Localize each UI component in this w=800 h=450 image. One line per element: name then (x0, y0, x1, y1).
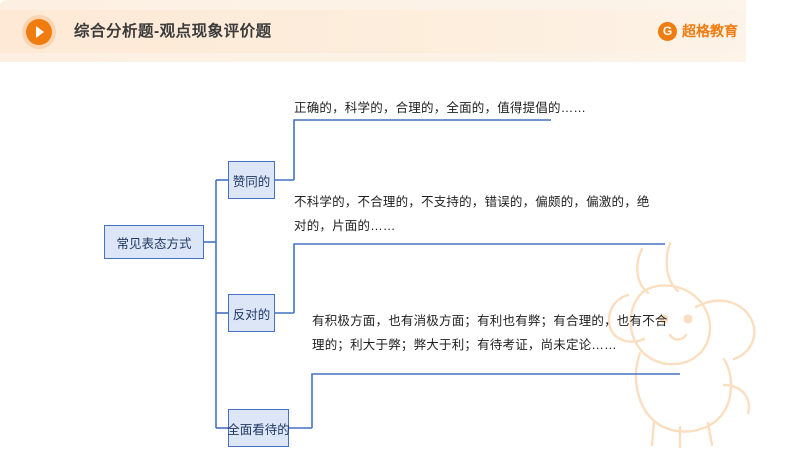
brand-name: 超格教育 (682, 21, 738, 41)
mindmap-branch-node-3[interactable]: 全面看待的 (228, 409, 289, 447)
mindmap-root-node[interactable]: 常见表态方式 (104, 225, 204, 259)
mindmap-branch-node-2[interactable]: 反对的 (228, 294, 275, 332)
page-header: 综合分析题-观点现象评价题 G 超格教育 (0, 0, 800, 62)
mindmap-branch-node-1[interactable]: 赞同的 (228, 161, 275, 199)
mindmap-canvas: 常见表态方式 赞同的 反对的 全面看待的 正确的，科学的，合理的，全面的，值得提… (0, 62, 800, 450)
header-right-spacer (746, 0, 800, 62)
play-triangle-icon (26, 19, 52, 45)
brand-logo: G 超格教育 (658, 21, 738, 41)
brand-mark-icon: G (658, 22, 677, 41)
page-title: 综合分析题-观点现象评价题 (74, 19, 272, 41)
